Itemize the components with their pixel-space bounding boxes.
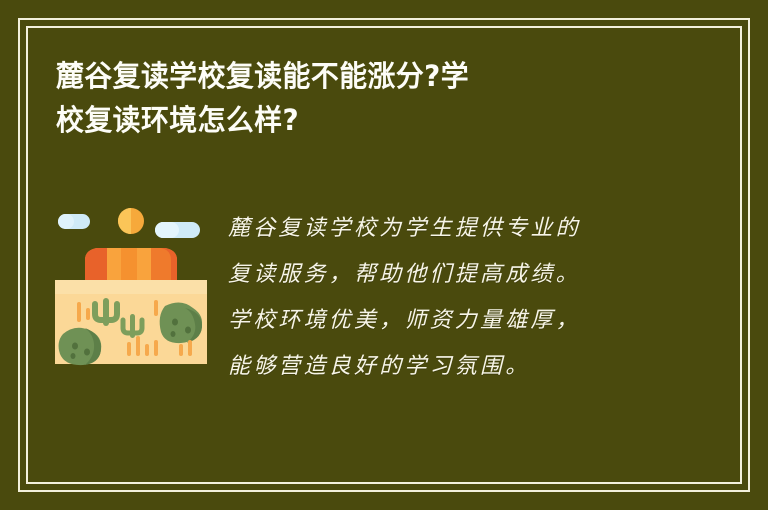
mesa-rock-formation bbox=[85, 248, 177, 284]
body-line-2: 复读服务，帮助他们提高成绩。 bbox=[228, 252, 678, 298]
body-line-4: 能够营造良好的学习氛围。 bbox=[228, 344, 678, 390]
body-line-1: 麓谷复读学校为学生提供专业的 bbox=[228, 206, 678, 252]
article-card: 麓谷复读学校复读能不能涨分?学 校复读环境怎么样? bbox=[0, 0, 768, 510]
cloud-left-icon bbox=[58, 214, 90, 229]
title-line-2: 校复读环境怎么样? bbox=[56, 98, 670, 142]
page-title: 麓谷复读学校复读能不能涨分?学 校复读环境怎么样? bbox=[56, 54, 696, 142]
cloud-right-icon bbox=[155, 222, 200, 238]
body-line-3: 学校环境优美，师资力量雄厚， bbox=[228, 298, 678, 344]
title-line-1: 麓谷复读学校复读能不能涨分?学 bbox=[56, 54, 670, 98]
desert-canyon-illustration bbox=[55, 198, 207, 366]
article-body: 麓谷复读学校为学生提供专业的 复读服务，帮助他们提高成绩。 学校环境优美，师资力… bbox=[228, 206, 678, 390]
sun-icon bbox=[118, 208, 144, 234]
